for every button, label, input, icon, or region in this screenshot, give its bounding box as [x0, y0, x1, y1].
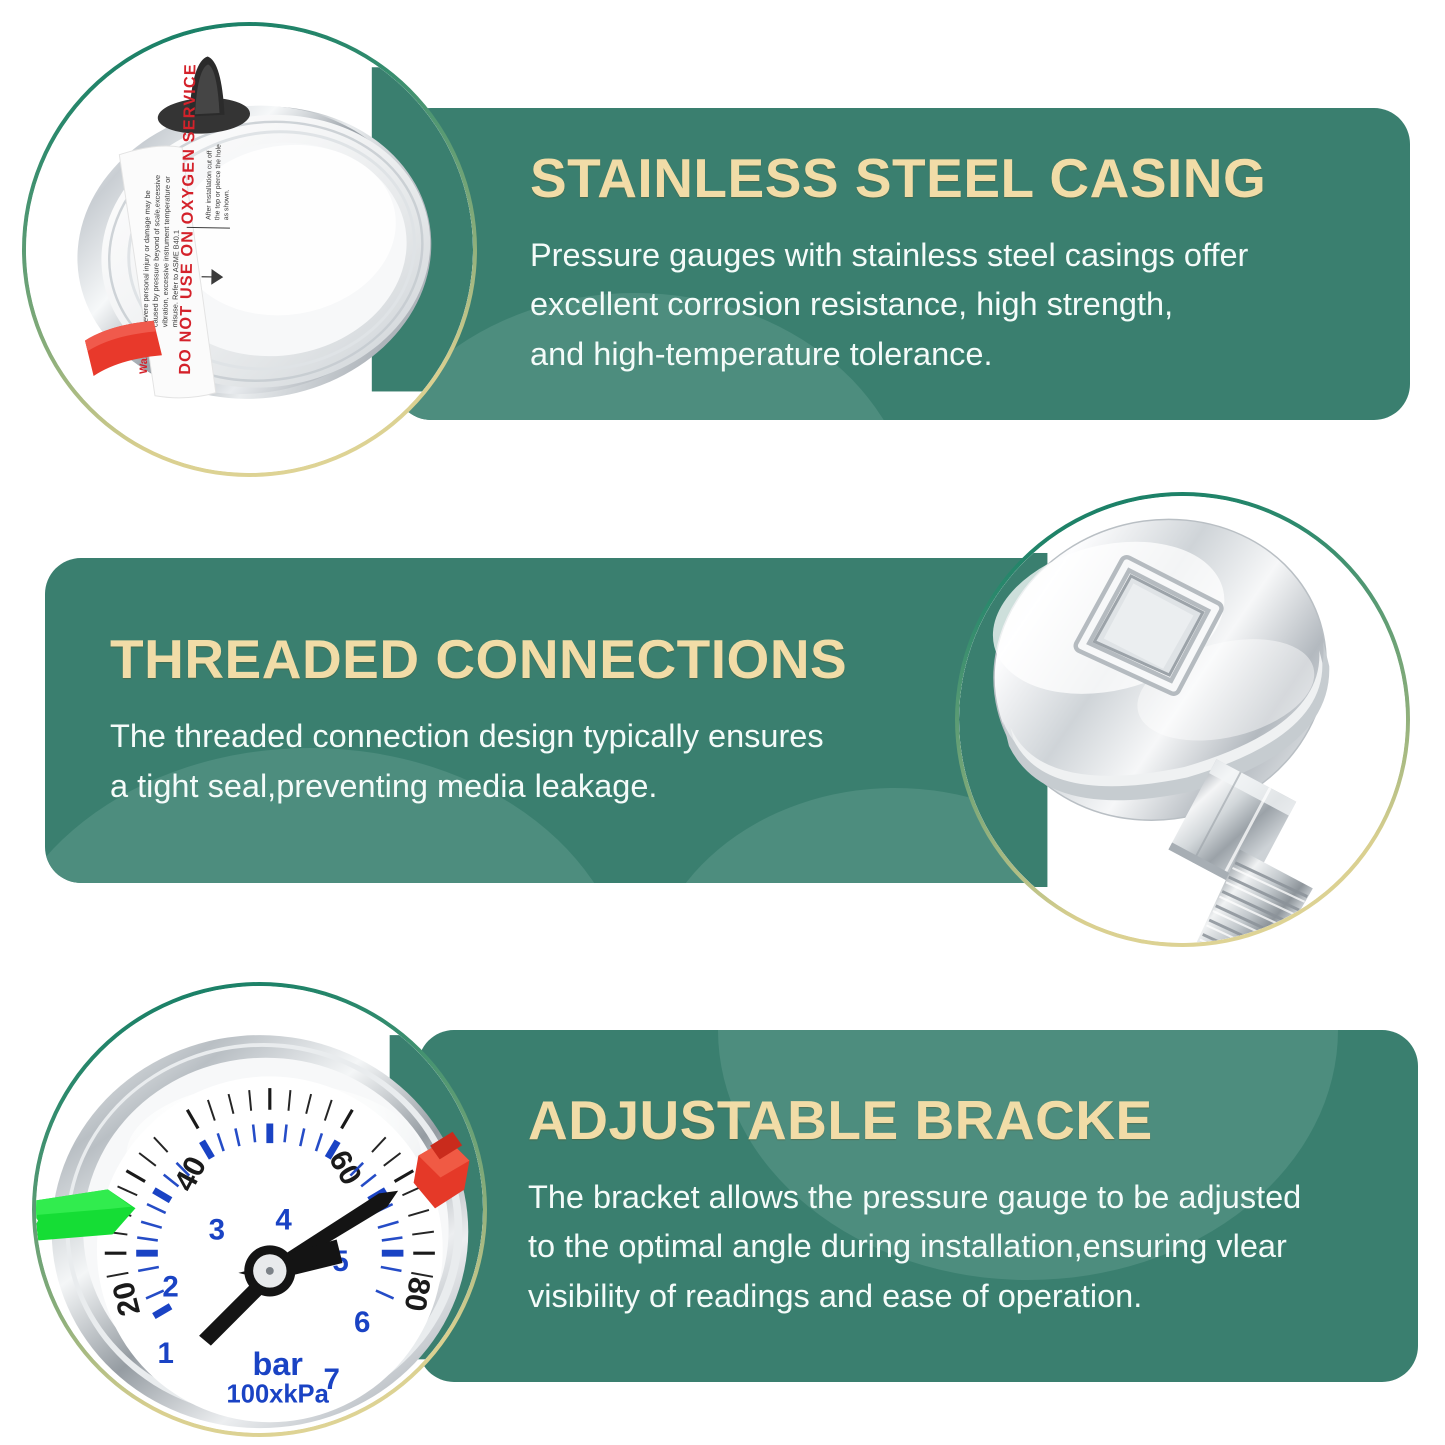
medallion-stainless-steel-casing: Warning: Severe personal injury or damag…	[22, 22, 477, 477]
pressure-gauge-stainless-casing-photo: Warning: Severe personal injury or damag…	[26, 26, 473, 473]
svg-text:80: 80	[398, 1275, 437, 1314]
infographic-page: STAINLESS STEEL CASING Pressure gauges w…	[0, 0, 1445, 1445]
feature-body-line: excellent corrosion resistance, high str…	[530, 280, 1340, 329]
svg-text:100xkPa: 100xkPa	[227, 1381, 330, 1409]
feature-title-adjustable-bracket: ADJUSTABLE BRACKE	[528, 1091, 1358, 1149]
svg-text:6: 6	[354, 1306, 370, 1339]
feature-body-line: The threaded connection design typically…	[110, 712, 1045, 761]
feature-panel-stainless-steel-casing: STAINLESS STEEL CASING Pressure gauges w…	[395, 108, 1410, 420]
svg-text:1: 1	[157, 1337, 173, 1370]
medallion-adjustable-bracket: 40 60 20 80	[32, 982, 487, 1437]
svg-text:3: 3	[209, 1213, 225, 1246]
feature-panel-adjustable-bracket: ADJUSTABLE BRACKE The bracket allows the…	[418, 1030, 1418, 1382]
svg-text:bar: bar	[252, 1346, 303, 1382]
feature-title-threaded-connections: THREADED CONNECTIONS	[110, 630, 1045, 688]
feature-body-threaded-connections: The threaded connection design typically…	[110, 712, 1045, 811]
feature-title-stainless-steel-casing: STAINLESS STEEL CASING	[530, 149, 1340, 207]
medallion-face: 40 60 20 80	[36, 986, 483, 1433]
medallion-face	[959, 496, 1406, 943]
feature-body-line: to the optimal angle during installation…	[528, 1222, 1358, 1271]
feature-body-line: Pressure gauges with stainless steel cas…	[530, 231, 1340, 280]
feature-body-line: visibility of readings and ease of opera…	[528, 1272, 1358, 1321]
medallion-face: Warning: Severe personal injury or damag…	[26, 26, 473, 473]
feature-body-adjustable-bracket: The bracket allows the pressure gauge to…	[528, 1173, 1358, 1321]
feature-body-stainless-steel-casing: Pressure gauges with stainless steel cas…	[530, 231, 1340, 379]
medallion-threaded-connections	[955, 492, 1410, 947]
feature-body-line: The bracket allows the pressure gauge to…	[528, 1173, 1358, 1222]
svg-text:the top or pierce the hole: the top or pierce the hole	[214, 144, 222, 220]
svg-text:2: 2	[162, 1270, 178, 1303]
svg-text:4: 4	[275, 1204, 292, 1237]
pressure-gauge-dial-photo: 40 60 20 80	[36, 986, 483, 1433]
svg-text:as shown.: as shown.	[223, 189, 231, 220]
feature-body-line: and high-temperature tolerance.	[530, 330, 1340, 379]
threaded-connection-photo	[959, 496, 1406, 943]
svg-text:After installation cut off: After installation cut off	[205, 150, 213, 219]
feature-body-line: a tight seal,preventing media leakage.	[110, 762, 1045, 811]
